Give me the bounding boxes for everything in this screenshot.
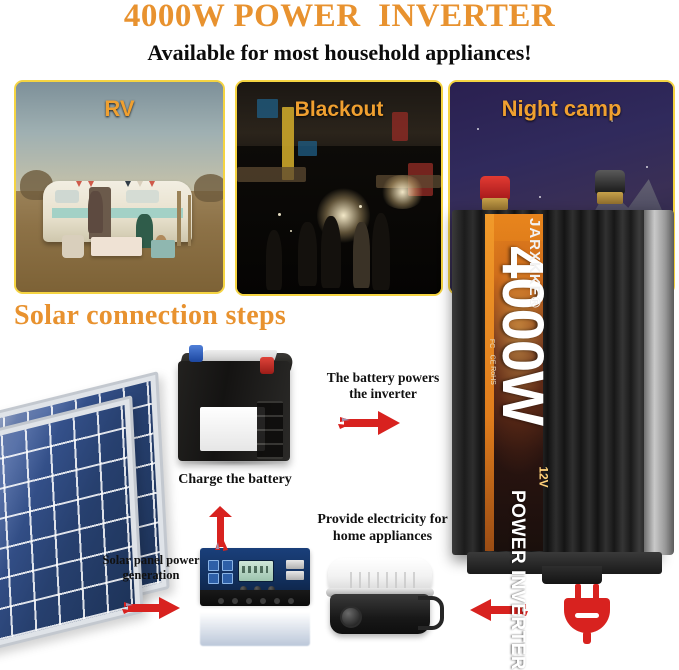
blackout-crowd-figure bbox=[353, 222, 369, 288]
inverter-brand-text: JARXKKE® bbox=[529, 218, 609, 328]
scenario-panel-rv: RV bbox=[14, 80, 225, 294]
controller-terminal bbox=[232, 598, 238, 604]
certification-marks: FC CE RoHS bbox=[487, 340, 497, 379]
controller-reflection bbox=[200, 606, 310, 646]
brand-value: JARXKKE® bbox=[526, 218, 543, 309]
arrow-right-solar-to-controller bbox=[122, 594, 184, 622]
home-appliance-rice-cooker bbox=[318, 556, 448, 646]
rv-bunting-flag bbox=[76, 181, 82, 187]
controller-lcd-display bbox=[238, 560, 274, 582]
panel-caption-blackout: Blackout bbox=[237, 98, 441, 122]
controller-terminal bbox=[274, 598, 280, 604]
section-title-solar-steps: Solar connection steps bbox=[14, 300, 286, 332]
rv-window bbox=[126, 190, 159, 202]
cooker-control-panel bbox=[350, 572, 422, 588]
battery-label bbox=[200, 407, 265, 451]
controller-terminal bbox=[288, 598, 294, 604]
caption-solar-panel-power-generation: Solar panel power generation bbox=[96, 553, 206, 583]
rv-bunting-flag bbox=[149, 181, 155, 187]
controller-clock-icon bbox=[222, 573, 233, 584]
cert-rohs-icon: RoHS bbox=[489, 366, 496, 385]
product-inverter: 4000W POWER INVERTER JARXKKE® FC CE RoHS… bbox=[447, 170, 679, 580]
inverter-stand bbox=[542, 566, 602, 584]
rv-bunting-flag bbox=[88, 181, 94, 187]
type-value: POWER INVERTER bbox=[506, 490, 528, 670]
page-subtitle: Available for most household appliances! bbox=[0, 40, 679, 66]
controller-usb-port bbox=[286, 560, 304, 569]
panel-caption-night-camp: Night camp bbox=[450, 96, 673, 122]
rv-trailer bbox=[43, 181, 192, 242]
controller-terminal bbox=[246, 598, 252, 604]
cooker-handle bbox=[418, 596, 444, 630]
rv-trailer-stripe bbox=[52, 208, 183, 218]
rv-bunting-flag bbox=[125, 181, 131, 187]
rv-tree bbox=[194, 174, 225, 201]
controller-terminal-block bbox=[200, 590, 310, 606]
rv-pole bbox=[177, 191, 180, 246]
rv-bunting-flag bbox=[137, 181, 143, 187]
blackout-crowd-figure bbox=[298, 222, 316, 286]
controller-usb-port bbox=[286, 571, 304, 580]
rv-table bbox=[91, 237, 143, 256]
blackout-crowd-figure bbox=[372, 213, 390, 289]
solar-panel bbox=[0, 395, 144, 665]
cert-ce-icon: CE bbox=[488, 355, 495, 365]
solar-charge-controller bbox=[200, 548, 310, 648]
terminal-cap bbox=[480, 176, 510, 200]
controller-terminal bbox=[260, 598, 266, 604]
controller-load-icon bbox=[208, 573, 219, 584]
caption-charge-the-battery: Charge the battery bbox=[160, 472, 310, 489]
panel-caption-rv: RV bbox=[16, 96, 223, 122]
caption-battery-powers-inverter: The battery powers the inverter bbox=[318, 370, 448, 402]
controller-battery-icon bbox=[222, 560, 233, 571]
terminal-cap bbox=[595, 170, 625, 194]
controller-terminal bbox=[218, 598, 224, 604]
scenario-panel-blackout: Blackout bbox=[235, 80, 443, 296]
blackout-crowd-figure bbox=[266, 230, 282, 289]
inverter-type-text: POWER INVERTER bbox=[487, 425, 607, 555]
blackout-neon-sign bbox=[298, 141, 316, 156]
cert-fcc-icon: FC bbox=[489, 339, 496, 348]
terminal-base bbox=[482, 198, 507, 210]
battery-body bbox=[178, 361, 290, 461]
solar-glare bbox=[0, 405, 135, 655]
blackout-awning bbox=[237, 167, 306, 182]
negative-terminal-icon bbox=[595, 170, 625, 204]
arrow-right-battery-to-inverter bbox=[338, 408, 404, 438]
caption-provide-electricity: Provide electricity for home appliances bbox=[310, 512, 455, 545]
voltage-label: 12V bbox=[537, 466, 551, 487]
cooker-knob-icon bbox=[340, 606, 362, 628]
battery-negative-post-icon bbox=[189, 345, 203, 362]
arrow-up-controller-to-battery bbox=[205, 505, 237, 551]
controller-solar-icon bbox=[208, 560, 219, 571]
rv-pole bbox=[188, 195, 191, 245]
rv-cooler bbox=[151, 240, 176, 259]
rv-person-standing bbox=[88, 191, 102, 233]
inverter-side-panel bbox=[644, 210, 674, 555]
power-plug-icon bbox=[560, 584, 614, 644]
rv-chair bbox=[62, 235, 85, 258]
blackout-crowd-figure bbox=[321, 216, 341, 288]
terminal-base bbox=[597, 192, 622, 204]
battery-shadow bbox=[180, 459, 288, 466]
product-infographic: 4000W POWER INVERTER Available for most … bbox=[0, 0, 679, 659]
car-battery bbox=[172, 345, 297, 470]
cooker-lid bbox=[328, 558, 432, 592]
battery-vent-grid bbox=[257, 401, 283, 459]
positive-terminal-icon bbox=[480, 176, 510, 210]
blackout-light-glow bbox=[380, 175, 425, 209]
battery-positive-post-icon bbox=[260, 357, 274, 374]
rv-window bbox=[55, 190, 79, 202]
page-title: 4000W POWER INVERTER bbox=[0, 0, 679, 35]
